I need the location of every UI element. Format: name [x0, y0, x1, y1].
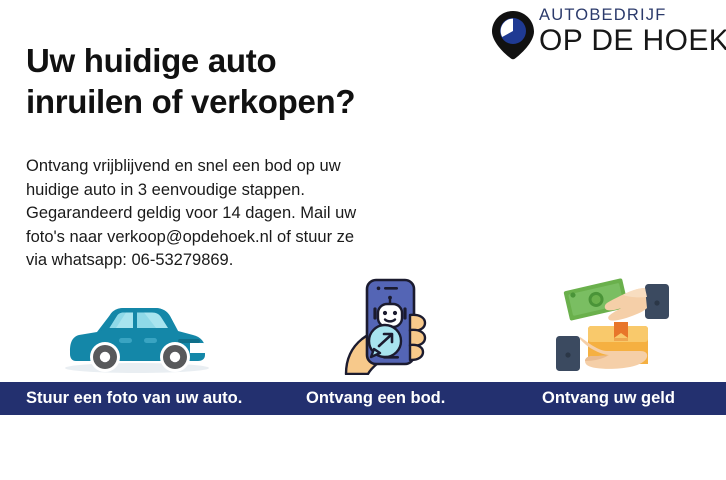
map-pin-icon	[489, 10, 537, 60]
page-title: Uw huidige auto inruilen of verkopen?	[26, 40, 466, 122]
body-paragraph: Ontvang vrijblijvend en snel een bod op …	[26, 155, 446, 273]
headline-line-1: Uw huidige auto	[26, 40, 466, 81]
hands-money-package-icon	[552, 275, 674, 380]
footer-whitespace	[0, 415, 726, 480]
body-line-2: huidige auto in 3 eenvoudige stappen.	[26, 179, 446, 203]
promo-banner: AUTOBEDRIJF OP DE HOEK Uw huidige auto i…	[0, 0, 726, 480]
steps-caption-bar: Stuur een foto van uw auto. Ontvang een …	[0, 382, 726, 415]
hand-holding-phone-icon	[328, 273, 438, 380]
body-line-5: via whatsapp: 06-53279869.	[26, 249, 446, 273]
logo-wordmark: AUTOBEDRIJF OP DE HOEK	[539, 6, 721, 57]
body-line-3: Gegarandeerd geldig voor 14 dagen. Mail …	[26, 202, 446, 226]
steps-icon-row	[0, 278, 726, 382]
body-line-4: foto's naar verkoop@opdehoek.nl of stuur…	[26, 226, 446, 250]
logo-line-autobedrijf: AUTOBEDRIJF	[539, 6, 721, 25]
step-1-icon-cell	[0, 278, 290, 382]
step-3-label: Ontvang uw geld	[542, 382, 675, 415]
logo-line-op-de-hoek: OP DE HOEK	[539, 25, 721, 57]
step-3-icon-cell	[490, 278, 726, 382]
body-line-1: Ontvang vrijblijvend en snel een bod op …	[26, 155, 446, 179]
step-2-label: Ontvang een bod.	[306, 382, 445, 415]
company-logo: AUTOBEDRIJF OP DE HOEK	[489, 6, 721, 62]
step-1-label: Stuur een foto van uw auto.	[26, 382, 242, 415]
step-2-icon-cell	[290, 278, 490, 382]
headline-line-2: inruilen of verkopen?	[26, 81, 466, 122]
car-icon	[62, 295, 212, 380]
